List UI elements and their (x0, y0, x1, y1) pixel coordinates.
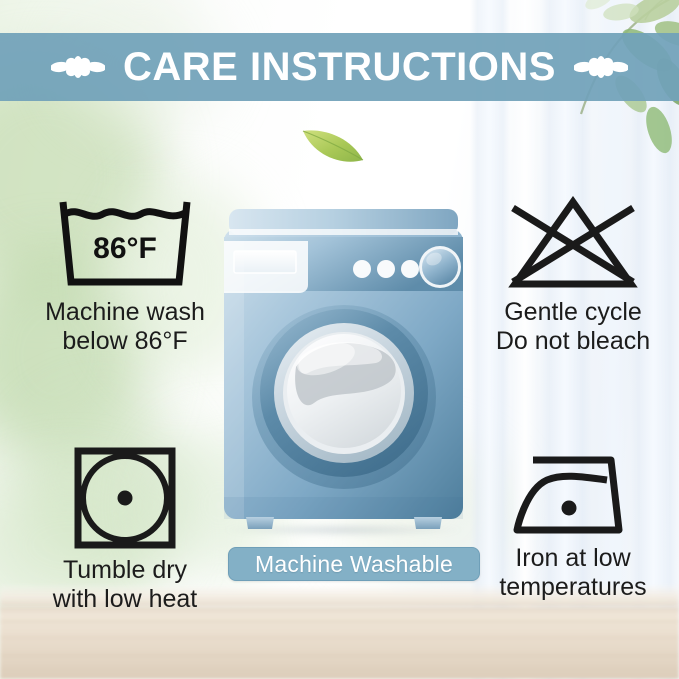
tumble-dry-icon (73, 446, 177, 550)
control-button[interactable] (401, 260, 419, 278)
crossed-triangle-icon (503, 196, 643, 292)
care-symbol-caption: Machine wash below 86°F (10, 298, 240, 355)
crossed-triangle-icon-wrapper (468, 196, 678, 292)
care-symbol-caption: Gentle cycle Do not bleach (468, 298, 678, 355)
machine-washable-badge: Machine Washable (228, 547, 480, 581)
iron-icon (503, 446, 643, 538)
control-button[interactable] (377, 260, 395, 278)
fleur-de-lis-icon (574, 45, 628, 89)
care-symbol-machine-wash: 86°F Machine wash below 86°F (10, 196, 240, 355)
care-symbol-iron: Iron at low temperatures (468, 446, 678, 601)
floating-leaf-icon (300, 122, 366, 168)
tumble-dry-icon-wrapper (10, 446, 240, 550)
page-title: CARE INSTRUCTIONS (123, 45, 556, 90)
wash-tub-icon-wrapper: 86°F (10, 196, 240, 292)
wash-tub-icon: 86°F (55, 196, 195, 292)
care-symbol-caption: Tumble dry with low heat (10, 556, 240, 613)
care-instructions-infographic: CARE INSTRUCTIONS 86°F Machine wash belo… (0, 0, 679, 679)
washing-machine-illustration (222, 207, 465, 529)
care-symbol-caption: Iron at low temperatures (468, 544, 678, 601)
badge-label: Machine Washable (255, 551, 453, 578)
care-symbol-do-not-bleach: Gentle cycle Do not bleach (468, 196, 678, 355)
wooden-table-surface (0, 607, 679, 679)
fleur-de-lis-icon (51, 45, 105, 89)
machine-shadow (224, 524, 462, 536)
care-symbol-tumble-dry: Tumble dry with low heat (10, 446, 240, 613)
control-button[interactable] (353, 260, 371, 278)
header-banner: CARE INSTRUCTIONS (0, 33, 679, 101)
wash-temperature-value: 86°F (93, 232, 157, 265)
iron-icon-wrapper (468, 446, 678, 538)
